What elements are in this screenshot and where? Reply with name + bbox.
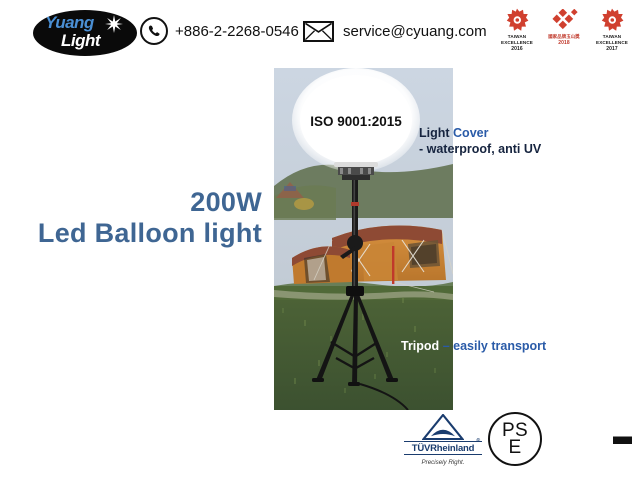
page-title: 200W Led Balloon light [0, 188, 262, 248]
phone-contact: +886-2-2268-0546 [140, 14, 299, 48]
callout-tripod-detail: – easily transport [443, 339, 547, 353]
award-line1: TAIWAN [508, 34, 526, 39]
award-year: 2016 [495, 46, 539, 52]
tuv-triangle-icon [404, 414, 482, 440]
award-line1: 國家品牌玉山獎 [548, 34, 579, 39]
tuv-wordmark: TÜVRheinland® [404, 441, 482, 455]
balloon-iso-label: ISO 9001:2015 [310, 114, 402, 129]
starburst-icon [105, 15, 123, 33]
award-caption: TAIWAN EXCELLENCE 2017 [590, 34, 634, 52]
logo-word-yuang: Yuang [45, 14, 94, 31]
yushan-award-diamond-icon [542, 7, 586, 33]
phone-handset-glyph [146, 23, 163, 40]
cert-tuv-rheinland: TÜVRheinland® Precisely Right. [404, 414, 482, 466]
tuv-tagline: Precisely Right. [404, 459, 482, 466]
logo-word-light: Light [61, 32, 100, 49]
callout-tripod-label: Tripod [401, 339, 439, 353]
certification-logos: TÜVRheinland® Precisely Right. PS E [404, 412, 636, 476]
award-caption: 國家品牌玉山獎 2018 [542, 34, 586, 46]
product-photo: ISO 9001:2015 [274, 68, 453, 410]
award-year: 2018 [542, 40, 586, 46]
taiwan-excellence-gear-icon [495, 7, 539, 33]
product-photo-illustration: ISO 9001:2015 [274, 68, 453, 410]
award-taiwan-excellence-2017: TAIWAN EXCELLENCE 2017 [590, 7, 634, 55]
product-slide: Yuang Light +886-2-2268-0546 s [0, 0, 640, 480]
taiwan-excellence-gear-icon [590, 7, 634, 33]
award-national-brand-yushan: 國家品牌玉山獎 2018 [542, 7, 586, 55]
email-contact: service@cyuang.com [303, 16, 487, 46]
award-line2: EXCELLENCE [501, 40, 533, 45]
callout-light-cover-title: Light Cover [419, 125, 541, 141]
header-bar: Yuang Light +886-2-2268-0546 s [0, 0, 640, 62]
pse-line2: E [509, 439, 522, 456]
callout-tripod: Tripod – easily transport [401, 339, 546, 353]
callout-light-cover-detail: - waterproof, anti UV [419, 141, 541, 157]
registered-mark-icon: ® [477, 438, 480, 444]
award-taiwan-excellence-2016: TAIWAN EXCELLENCE 2016 [495, 7, 539, 55]
award-line2: EXCELLENCE [596, 40, 628, 45]
cert-ce-mark [552, 415, 636, 465]
email-address: service@cyuang.com [343, 23, 487, 40]
callout-word-light: Light [419, 126, 450, 140]
callout-word-cover: Cover [453, 126, 488, 140]
callout-light-cover: Light Cover - waterproof, anti UV [419, 125, 541, 157]
envelope-fold-lines [305, 23, 332, 40]
phone-number: +886-2-2268-0546 [175, 23, 299, 40]
phone-icon [140, 17, 168, 45]
title-wattage: 200W [0, 188, 262, 217]
cert-pse: PS E [488, 412, 542, 466]
award-year: 2017 [590, 46, 634, 52]
envelope-icon [303, 21, 334, 42]
award-badges: TAIWAN EXCELLENCE 2016 [495, 7, 635, 57]
title-product-name: Led Balloon light [0, 219, 262, 248]
award-caption: TAIWAN EXCELLENCE 2016 [495, 34, 539, 52]
brand-logo: Yuang Light [33, 10, 137, 56]
award-line1: TAIWAN [603, 34, 621, 39]
ce-mark-icon [552, 415, 636, 465]
